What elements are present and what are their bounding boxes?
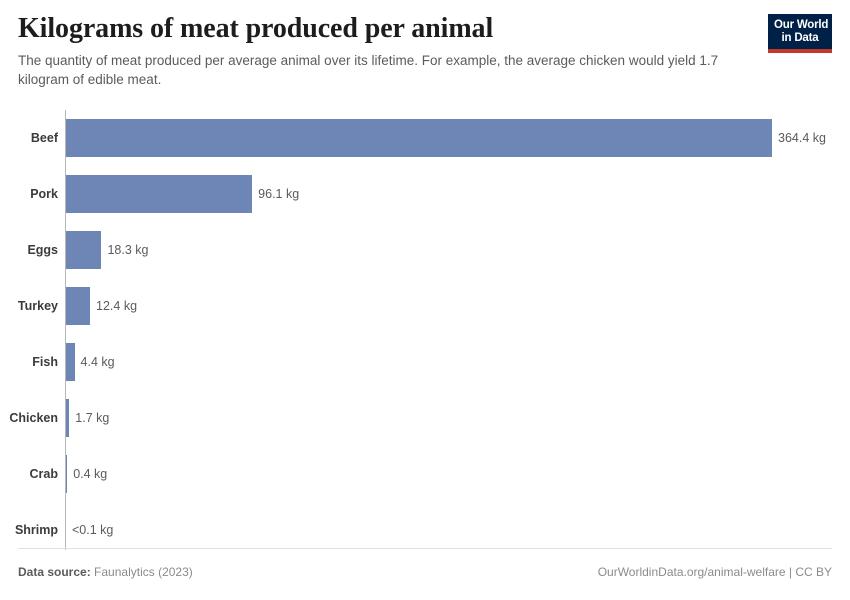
bar-eggs[interactable] xyxy=(66,231,101,269)
attribution-link[interactable]: OurWorldinData.org/animal-welfare | CC B… xyxy=(598,565,832,579)
chart-header: Kilograms of meat produced per animal Th… xyxy=(0,0,850,89)
bar-chicken[interactable] xyxy=(66,399,69,437)
value-label-shrimp: <0.1 kg xyxy=(72,523,113,537)
bar-row-beef[interactable]: Beef364.4 kg xyxy=(0,110,850,166)
bar-row-crab[interactable]: Crab0.4 kg xyxy=(0,446,850,502)
value-label-turkey: 12.4 kg xyxy=(96,299,137,313)
chart-page: Kilograms of meat produced per animal Th… xyxy=(0,0,850,600)
category-label-fish: Fish xyxy=(0,355,58,369)
logo-line-1: Our World xyxy=(774,19,826,32)
category-label-chicken: Chicken xyxy=(0,411,58,425)
category-label-beef: Beef xyxy=(0,131,58,145)
chart-footer: Data source: Faunalytics (2023) OurWorld… xyxy=(18,548,832,586)
category-label-pork: Pork xyxy=(0,187,58,201)
bar-crab[interactable] xyxy=(66,455,67,493)
bar-row-fish[interactable]: Fish4.4 kg xyxy=(0,334,850,390)
bar-row-pork[interactable]: Pork96.1 kg xyxy=(0,166,850,222)
page-subtitle: The quantity of meat produced per averag… xyxy=(18,51,738,89)
value-label-eggs: 18.3 kg xyxy=(107,243,148,257)
page-title: Kilograms of meat produced per animal xyxy=(18,13,832,45)
data-source-value: Faunalytics (2023) xyxy=(94,565,193,579)
value-label-chicken: 1.7 kg xyxy=(75,411,109,425)
data-source-label: Data source: xyxy=(18,565,91,579)
bar-pork[interactable] xyxy=(66,175,252,213)
our-world-in-data-logo[interactable]: Our World in Data xyxy=(768,14,832,53)
logo-line-2: in Data xyxy=(774,32,826,45)
data-source: Data source: Faunalytics (2023) xyxy=(18,565,193,579)
category-label-shrimp: Shrimp xyxy=(0,523,58,537)
bar-chart: Beef364.4 kgPork96.1 kgEggs18.3 kgTurkey… xyxy=(0,104,850,552)
value-label-beef: 364.4 kg xyxy=(778,131,826,145)
value-label-pork: 96.1 kg xyxy=(258,187,299,201)
category-label-turkey: Turkey xyxy=(0,299,58,313)
value-label-crab: 0.4 kg xyxy=(73,467,107,481)
bar-turkey[interactable] xyxy=(66,287,90,325)
bar-rows: Beef364.4 kgPork96.1 kgEggs18.3 kgTurkey… xyxy=(0,104,850,552)
value-label-fish: 4.4 kg xyxy=(81,355,115,369)
bar-row-eggs[interactable]: Eggs18.3 kg xyxy=(0,222,850,278)
bar-row-turkey[interactable]: Turkey12.4 kg xyxy=(0,278,850,334)
bar-fish[interactable] xyxy=(66,343,75,381)
bar-beef[interactable] xyxy=(66,119,772,157)
bar-row-chicken[interactable]: Chicken1.7 kg xyxy=(0,390,850,446)
category-label-eggs: Eggs xyxy=(0,243,58,257)
category-label-crab: Crab xyxy=(0,467,58,481)
